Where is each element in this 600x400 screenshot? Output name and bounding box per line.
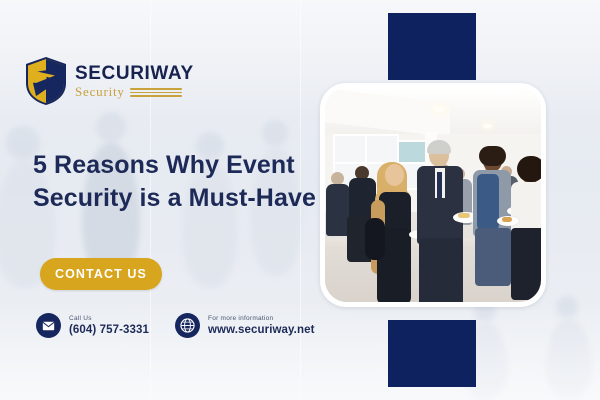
brand-name: SECURIWAY <box>75 64 194 83</box>
contact-website[interactable]: For more information www.securiway.net <box>175 313 315 338</box>
envelope-icon <box>36 313 61 338</box>
contact-us-button[interactable]: CONTACT US <box>40 258 162 290</box>
promo-banner: SECURIWAY Security 5 Reasons Why Event S… <box>0 0 600 400</box>
navy-rectangle-bottom <box>388 320 476 387</box>
page-title: 5 Reasons Why Event Security is a Must-H… <box>33 149 323 215</box>
event-photo <box>325 88 541 302</box>
contact-phone-label: Call Us <box>69 315 149 322</box>
brand-logo[interactable]: SECURIWAY Security <box>24 56 194 106</box>
shield-logo-icon <box>24 56 68 106</box>
globe-icon <box>175 313 200 338</box>
contact-phone-value: (604) 757-3331 <box>69 324 149 337</box>
contact-website-label: For more information <box>208 315 315 322</box>
contact-website-value: www.securiway.net <box>208 324 315 337</box>
contact-phone[interactable]: Call Us (604) 757-3331 <box>36 313 149 338</box>
event-photo-frame <box>320 83 546 307</box>
logo-rule-lines <box>130 86 182 97</box>
brand-tagline: Security <box>75 85 125 98</box>
navy-rectangle-top <box>388 13 476 80</box>
